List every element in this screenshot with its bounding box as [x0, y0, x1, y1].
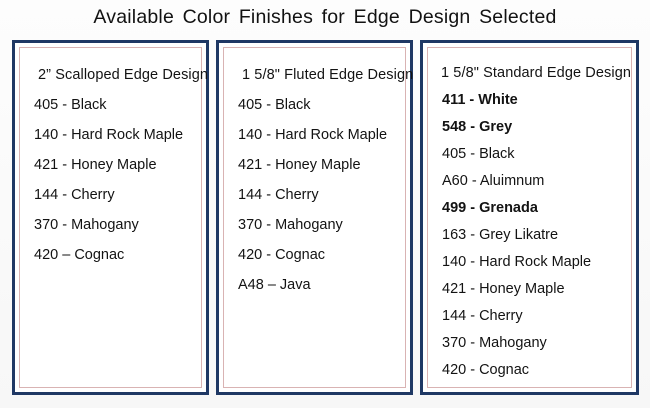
- list-item: 144 - Cherry: [224, 180, 405, 210]
- list-item: 370 - Mahogany: [224, 210, 405, 240]
- list-item: 405 - Black: [428, 141, 631, 168]
- finish-list-standard: 1 5/8" Standard Edge Design 411 - White …: [428, 60, 631, 384]
- list-item: 420 - Cognac: [224, 240, 405, 270]
- panel-header-standard: 1 5/8" Standard Edge Design: [428, 60, 631, 87]
- panel-header-fluted: 1 5/8" Fluted Edge Design: [224, 60, 405, 90]
- panel-standard-edge-design: 1 5/8" Standard Edge Design 411 - White …: [420, 40, 639, 395]
- panel-scalloped-edge-design: 2” Scalloped Edge Design 405 - Black 140…: [12, 40, 209, 395]
- list-item: 411 - White: [428, 87, 631, 114]
- list-item: 421 - Honey Maple: [428, 276, 631, 303]
- list-item: 421 - Honey Maple: [224, 150, 405, 180]
- page-title: Available Color Finishes for Edge Design…: [0, 6, 650, 29]
- list-item: 499 - Grenada: [428, 195, 631, 222]
- list-item: 144 - Cherry: [20, 180, 201, 210]
- list-item: 548 - Grey: [428, 114, 631, 141]
- list-item: 370 - Mahogany: [20, 210, 201, 240]
- list-item: A48 – Java: [224, 270, 405, 300]
- document-page: Available Color Finishes for Edge Design…: [0, 0, 650, 408]
- list-item: 420 – Cognac: [20, 240, 201, 270]
- finish-list-fluted: 1 5/8" Fluted Edge Design 405 - Black 14…: [224, 60, 405, 300]
- panel-inner-border: 2” Scalloped Edge Design 405 - Black 140…: [19, 47, 202, 388]
- panel-fluted-edge-design: 1 5/8" Fluted Edge Design 405 - Black 14…: [216, 40, 413, 395]
- panel-inner-border: 1 5/8" Fluted Edge Design 405 - Black 14…: [223, 47, 406, 388]
- list-item: 405 - Black: [224, 90, 405, 120]
- list-item: A60 - Aluimnum: [428, 168, 631, 195]
- list-item: 140 - Hard Rock Maple: [20, 120, 201, 150]
- finish-list-scalloped: 2” Scalloped Edge Design 405 - Black 140…: [20, 60, 201, 270]
- list-item: 140 - Hard Rock Maple: [224, 120, 405, 150]
- list-item: 420 - Cognac: [428, 357, 631, 384]
- list-item: 405 - Black: [20, 90, 201, 120]
- panel-inner-border: 1 5/8" Standard Edge Design 411 - White …: [427, 47, 632, 388]
- panel-header-scalloped: 2” Scalloped Edge Design: [20, 60, 201, 90]
- list-item: 163 - Grey Likatre: [428, 222, 631, 249]
- list-item: 144 - Cherry: [428, 303, 631, 330]
- list-item: 421 - Honey Maple: [20, 150, 201, 180]
- list-item: 370 - Mahogany: [428, 330, 631, 357]
- list-item: 140 - Hard Rock Maple: [428, 249, 631, 276]
